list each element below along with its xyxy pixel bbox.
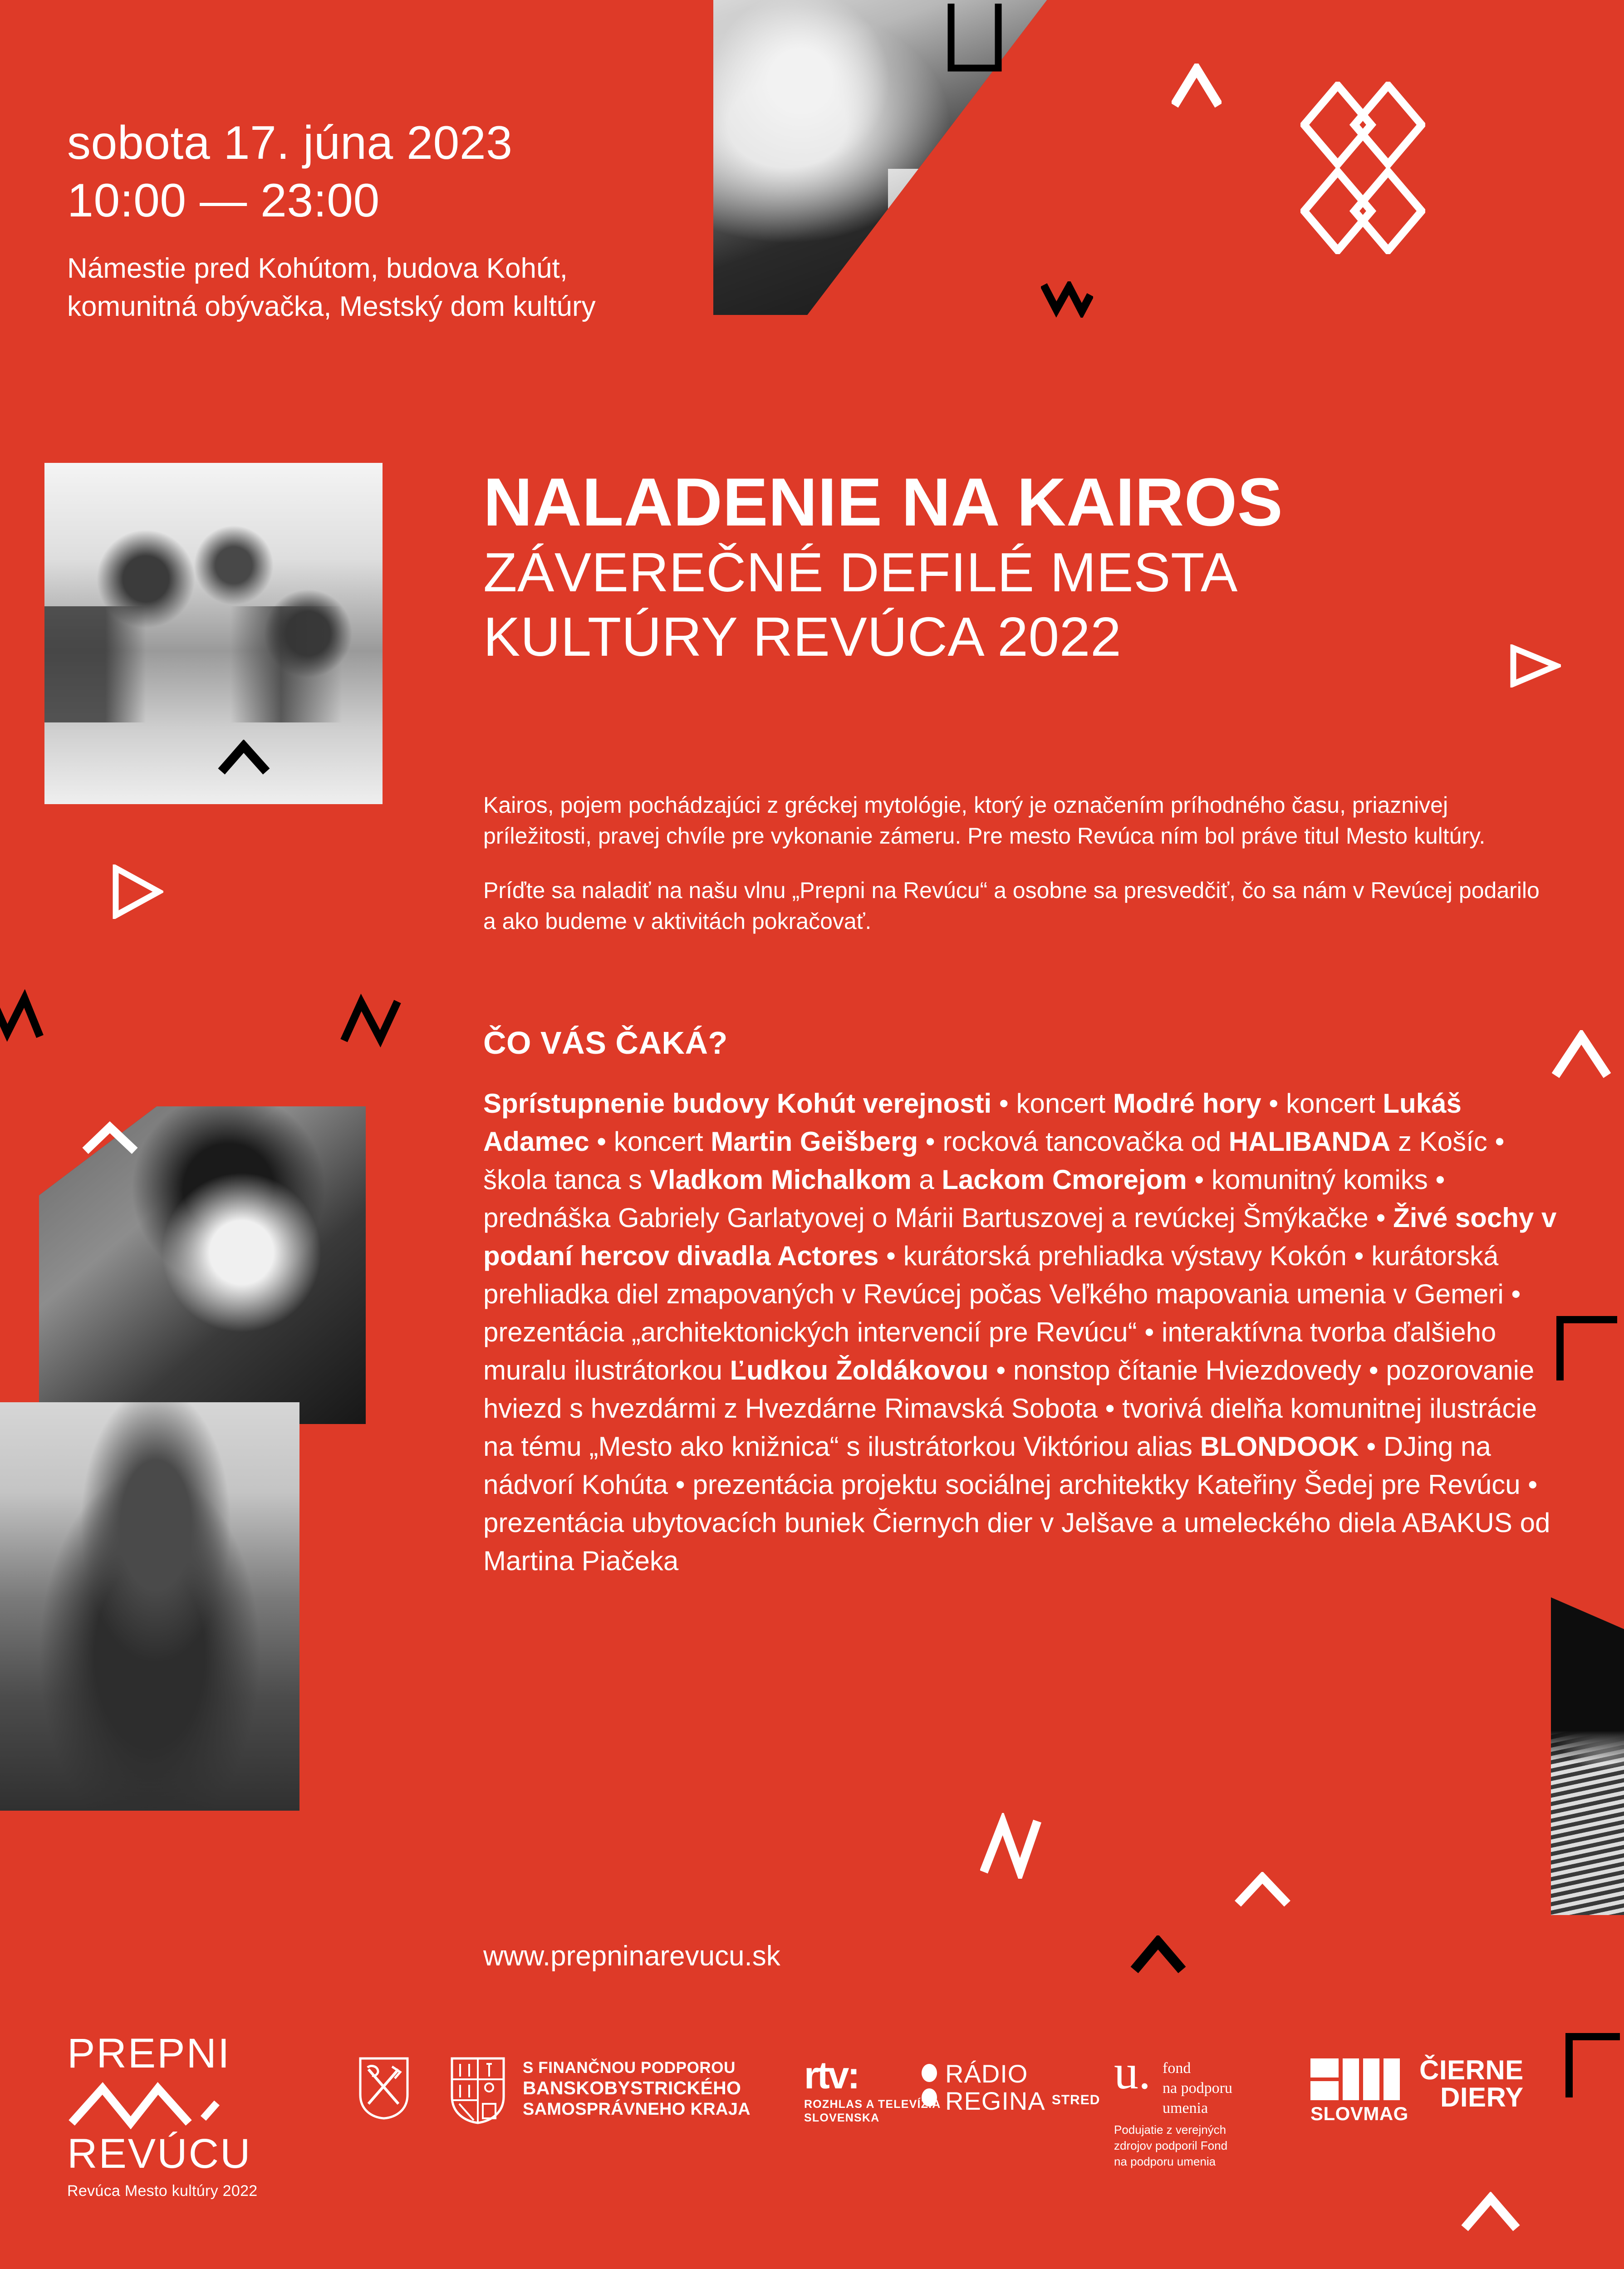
program-bullet: •: [668, 1469, 692, 1500]
chevron-up-icon: [1552, 1030, 1611, 1080]
program-item: prezentácia projektu sociálnej architekt…: [692, 1469, 1520, 1500]
event-date: sobota 17. júna 2023: [67, 114, 680, 172]
headline-subtitle-line-2: KULTÚRY REVÚCA 2022: [483, 605, 1563, 669]
poster-canvas: sobota 17. júna 2023 10:00 — 23:00 Námes…: [0, 0, 1624, 2269]
zigzag-icon: [339, 992, 417, 1051]
brand-line-2: REVÚCU: [67, 2133, 330, 2174]
zigzag-icon: [980, 1813, 1055, 1879]
brand-zigzag-icon: [67, 2079, 330, 2131]
fpu-support-note: Podujatie z verejných zdrojov podporil F…: [1114, 2122, 1227, 2170]
program-bullet: •: [1261, 1088, 1286, 1119]
fpu-line-2: na podporu: [1163, 2078, 1232, 2098]
bbsk-support-text: S FINANČNOU PODPOROU BANSKOBYSTRICKÉHO S…: [523, 2058, 751, 2120]
photo-guitarist: [1551, 1597, 1624, 1915]
crest-bbsk-icon: [450, 2057, 505, 2127]
regina-suffix: STRED: [1052, 2092, 1100, 2108]
program-bullet: •: [918, 1126, 942, 1157]
fpu-note-line-2: zdrojov podporil Fond: [1114, 2138, 1227, 2154]
photo-living-statue: [0, 1402, 299, 1811]
bbsk-line-2: BANSKOBYSTRICKÉHO: [523, 2077, 751, 2099]
photo-band-trio: [44, 463, 383, 804]
footer: PREPNI REVÚCU Revúca Mesto kultúry 2022: [0, 2015, 1624, 2269]
crest-revuca-icon: [358, 2057, 409, 2122]
fpu-mark: u.: [1114, 2053, 1151, 2092]
program-bullet: •: [1361, 1355, 1386, 1385]
program-bullet: •: [589, 1126, 613, 1157]
headline-block: NALADENIE NA KAIROS ZÁVEREČNÉ DEFILÉ MES…: [483, 467, 1563, 669]
headline-subtitle-line-1: ZÁVEREČNÉ DEFILÉ MESTA: [483, 540, 1563, 605]
program-item: prednáška Gabriely Garlatyovej o Márii B…: [483, 1203, 1369, 1233]
zigzag-icon: [0, 989, 55, 1048]
regina-line-2: REGINA: [945, 2087, 1045, 2115]
intro-paragraph-1: Kairos, pojem pochádzajúci z gréckej myt…: [483, 790, 1547, 851]
fpu-note-line-1: Podujatie z verejných: [1114, 2122, 1227, 2138]
program-bullet: •: [1187, 1164, 1212, 1195]
regina-line-1: RÁDIO: [945, 2060, 1045, 2087]
program-bullet: •: [1347, 1241, 1371, 1271]
program-bullet: •: [1137, 1317, 1162, 1347]
program-bullet: •: [991, 1088, 1016, 1119]
logo-fpu: u. fond na podporu umenia: [1114, 2053, 1232, 2119]
rtvs-wordmark: rtv:: [804, 2058, 941, 2093]
logo-rtvs: rtv: ROZHLAS A TELEVÍZIA SLOVENSKA: [804, 2058, 941, 2125]
regina-dots-icon: [922, 2060, 937, 2107]
intro-paragraph-2: Príďte sa naladiť na našu vlnu „Prepni n…: [483, 875, 1547, 937]
program-item: prezentácia „architektonických intervenc…: [483, 1317, 1137, 1347]
program-item: kurátorská prehliadka výstavy Kokón: [903, 1241, 1347, 1271]
fpu-wordmark: fond na podporu umenia: [1163, 2053, 1232, 2119]
page-title: NALADENIE NA KAIROS: [483, 467, 1563, 537]
program-bullet: •: [1428, 1164, 1445, 1195]
slovmag-bars-icon: [1310, 2058, 1408, 2100]
program-item: nonstop čítanie Hviezdovedy: [1013, 1355, 1361, 1385]
website-url[interactable]: www.prepninarevucu.sk: [483, 1940, 780, 1972]
fpu-line-3: umenia: [1163, 2098, 1232, 2118]
bbsk-line-3: SAMOSPRÁVNEHO KRAJA: [523, 2099, 751, 2120]
zigzag-icon: [1041, 281, 1093, 318]
event-time: 10:00 — 23:00: [67, 172, 680, 230]
slovmag-wordmark: SLOVMAG: [1310, 2103, 1408, 2125]
event-venue-line-1: Námestie pred Kohútom, budova Kohút,: [67, 250, 680, 288]
intro-block: Kairos, pojem pochádzajúci z gréckej myt…: [483, 790, 1547, 960]
cierne-diery-line-2: DIERY: [1419, 2084, 1524, 2111]
program-item: komunitný komiks: [1212, 1164, 1428, 1195]
event-info-block: sobota 17. júna 2023 10:00 — 23:00 Námes…: [67, 114, 680, 326]
bracket-icon: [947, 4, 1002, 72]
program-bullet: •: [1487, 1126, 1505, 1157]
chevron-up-icon: [1172, 64, 1222, 109]
headline-subtitle: ZÁVEREČNÉ DEFILÉ MESTA KULTÚRY REVÚCA 20…: [483, 540, 1563, 669]
program-bullet: •: [1369, 1203, 1393, 1233]
logo-prepni-revucu: PREPNI REVÚCU Revúca Mesto kultúry 2022: [67, 2033, 330, 2200]
program-bullet: •: [1521, 1469, 1538, 1500]
chevron-up-icon: [1130, 1935, 1187, 1974]
program-item: škola tanca s Vladkom Michalkom a Lackom…: [483, 1164, 1187, 1195]
chevron-up-icon: [218, 740, 270, 776]
program-list: Sprístupnenie budovy Kohút verejnosti • …: [483, 1085, 1568, 1580]
program-item: Sprístupnenie budovy Kohút verejnosti: [483, 1088, 991, 1119]
program-bullet: •: [1359, 1431, 1384, 1462]
rtvs-subtitle: ROZHLAS A TELEVÍZIA SLOVENSKA: [804, 2097, 941, 2125]
logo-cierne-diery: ČIERNE DIERY: [1419, 2057, 1524, 2111]
program-item: koncert Martin Geišberg: [614, 1126, 918, 1157]
logo-radio-regina: RÁDIO REGINA STRED: [922, 2060, 1100, 2115]
logo-slovmag: SLOVMAG: [1310, 2058, 1408, 2125]
bbsk-line-1: S FINANČNOU PODPOROU: [523, 2058, 751, 2077]
chevron-up-icon: [82, 1121, 138, 1155]
rtvs-subtitle-line-1: ROZHLAS A TELEVÍZIA: [804, 2097, 941, 2112]
brand-tagline: Revúca Mesto kultúry 2022: [67, 2182, 330, 2200]
rtvs-subtitle-line-2: SLOVENSKA: [804, 2111, 941, 2125]
regina-wordmark: RÁDIO REGINA: [945, 2060, 1045, 2115]
diamond-pair-icon: [1300, 82, 1425, 254]
program-item: koncert Modré hory: [1016, 1088, 1261, 1119]
cierne-diery-line-1: ČIERNE: [1419, 2057, 1524, 2084]
program-item: rocková tancovačka od HALIBANDA z Košíc: [942, 1126, 1487, 1157]
program-bullet: •: [1098, 1393, 1122, 1424]
program-bullet: •: [878, 1241, 903, 1271]
fpu-note-line-3: na podporu umenia: [1114, 2154, 1227, 2170]
program-bullet: •: [1504, 1279, 1521, 1309]
program-bullet: •: [989, 1355, 1013, 1385]
program-item: prezentácia ubytovacích buniek Čiernych …: [483, 1508, 1550, 1576]
chevron-up-icon: [1234, 1872, 1291, 1908]
brand-line-1: PREPNI: [67, 2033, 330, 2074]
section-heading: ČO VÁS ČAKÁ?: [483, 1025, 728, 1061]
fpu-line-1: fond: [1163, 2058, 1232, 2078]
event-venue-line-2: komunitná obývačka, Mestský dom kultúry: [67, 288, 680, 326]
play-triangle-icon: [111, 864, 163, 919]
